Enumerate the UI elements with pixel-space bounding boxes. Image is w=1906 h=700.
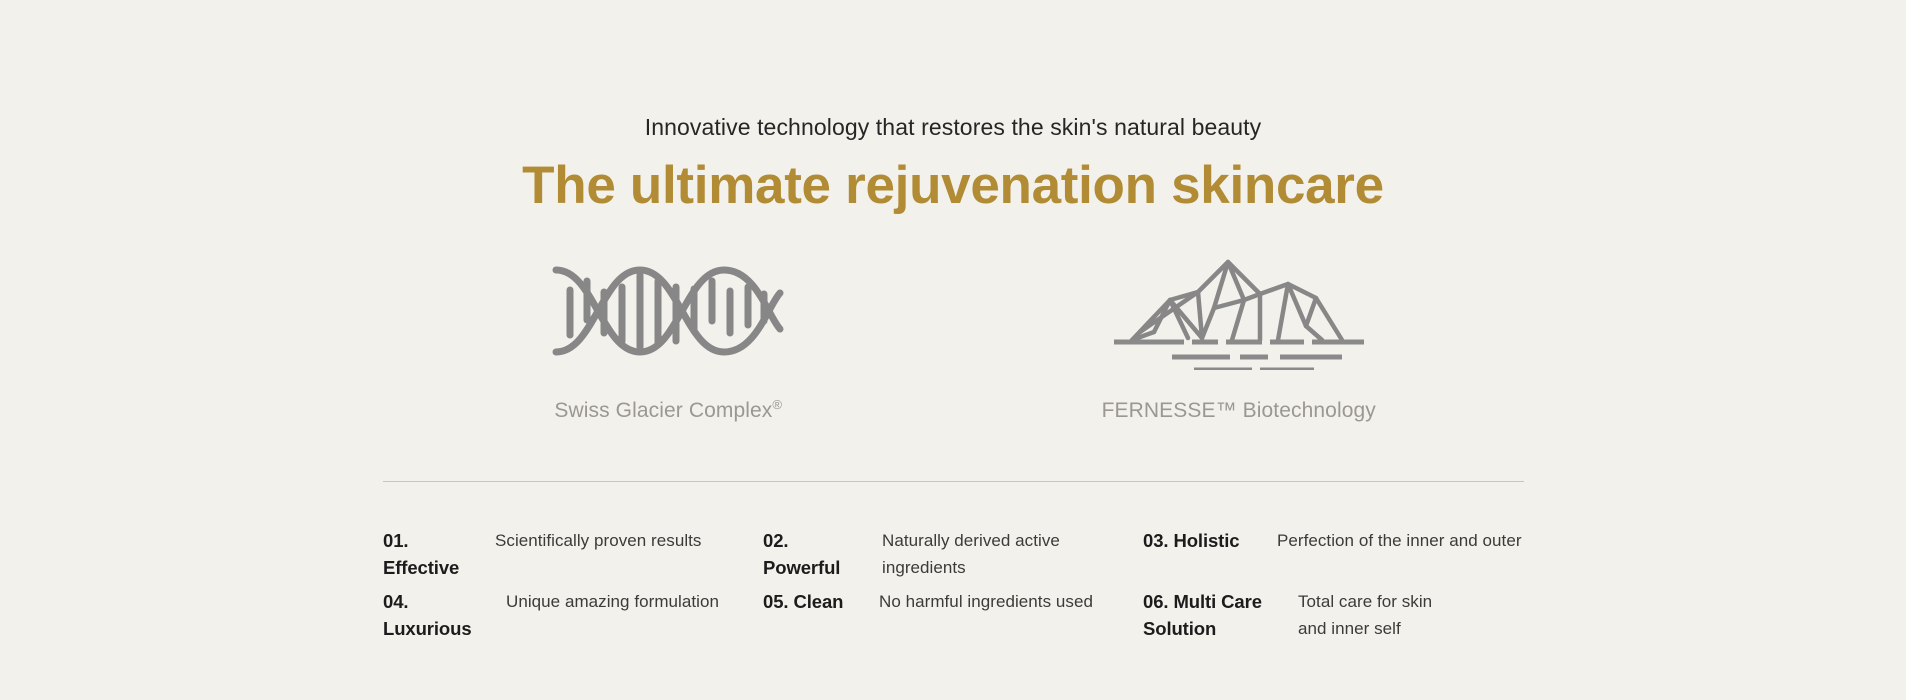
feature-label: 02. Powerful	[763, 527, 867, 581]
page-title: The ultimate rejuvenation skincare	[0, 155, 1906, 217]
feature-description: No harmful ingredients used	[879, 588, 1093, 615]
technology-caption-text: FERNESSE™ Biotechnology	[1102, 399, 1376, 422]
feature-grid: 01. Effective Scientifically proven resu…	[383, 527, 1543, 642]
page-root: Innovative technology that restores the …	[0, 0, 1906, 700]
heading-block: Innovative technology that restores the …	[0, 112, 1906, 217]
feature-item: 04. Luxurious Unique amazing formulation	[383, 588, 763, 642]
technology-item-fernesse-biotechnology: FERNESSE™ Biotechnology	[954, 248, 1525, 425]
feature-item: 02. Powerful Naturally derived active in…	[763, 527, 1143, 581]
dna-helix-icon	[550, 248, 786, 373]
feature-label: 03. Holistic	[1143, 527, 1263, 554]
mountain-icon	[1110, 248, 1368, 373]
technology-caption-text: Swiss Glacier Complex	[554, 399, 772, 422]
feature-label: 04. Luxurious	[383, 588, 483, 642]
feature-item: 01. Effective Scientifically proven resu…	[383, 527, 763, 581]
technology-icons-row: Swiss Glacier Complex®	[383, 248, 1524, 425]
feature-item: 03. Holistic Perfection of the inner and…	[1143, 527, 1543, 581]
feature-description: Total care for skin and inner self	[1298, 588, 1448, 642]
feature-description: Scientifically proven results	[495, 527, 701, 554]
feature-label: 01. Effective	[383, 527, 483, 581]
feature-description: Unique amazing formulation	[506, 588, 719, 615]
feature-item: 06. Multi Care Solution Total care for s…	[1143, 588, 1543, 642]
feature-description: Perfection of the inner and outer	[1277, 527, 1522, 554]
feature-label: 06. Multi Care Solution	[1143, 588, 1283, 642]
registered-mark: ®	[772, 397, 782, 412]
technology-item-swiss-glacier-complex: Swiss Glacier Complex®	[383, 248, 954, 425]
feature-item: 05. Clean No harmful ingredients used	[763, 588, 1143, 642]
feature-description: Naturally derived active ingredients	[882, 527, 1135, 581]
technology-caption: FERNESSE™ Biotechnology	[1102, 397, 1376, 425]
feature-label: 05. Clean	[763, 588, 867, 615]
eyebrow-text: Innovative technology that restores the …	[0, 112, 1906, 142]
section-divider	[383, 481, 1524, 482]
technology-caption: Swiss Glacier Complex®	[554, 397, 782, 425]
